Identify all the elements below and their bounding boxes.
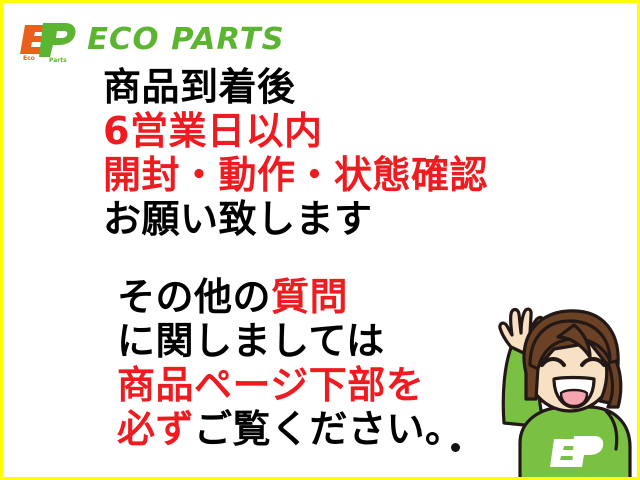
brand-wordmark: ECO PARTS — [87, 25, 285, 55]
notice-line-5-highlight: 質問 — [271, 275, 348, 319]
notice-line-1: 商品到着後 — [103, 65, 573, 109]
notice-banner: Eco Parts ECO PARTS 商品到着後 6営業日以内 開封・動作・状… — [0, 0, 640, 480]
notice-line-3: 開封・動作・状態確認 — [103, 153, 573, 197]
notice-line-8-plain: ご覧ください。 — [194, 407, 464, 451]
eco-parts-logo-icon: Eco Parts — [19, 17, 79, 63]
svg-text:Parts: Parts — [49, 57, 67, 63]
mascot-illustration — [458, 303, 640, 480]
paragraph-spacer — [103, 241, 573, 275]
notice-line-5-plain: その他の — [117, 275, 271, 319]
notice-line-8-highlight: 必ず — [117, 407, 194, 451]
brand-header: Eco Parts ECO PARTS — [19, 17, 283, 63]
svg-text:Eco: Eco — [23, 55, 35, 62]
notice-line-4: お願い致します — [103, 197, 573, 241]
notice-line-2: 6営業日以内 — [103, 109, 573, 153]
